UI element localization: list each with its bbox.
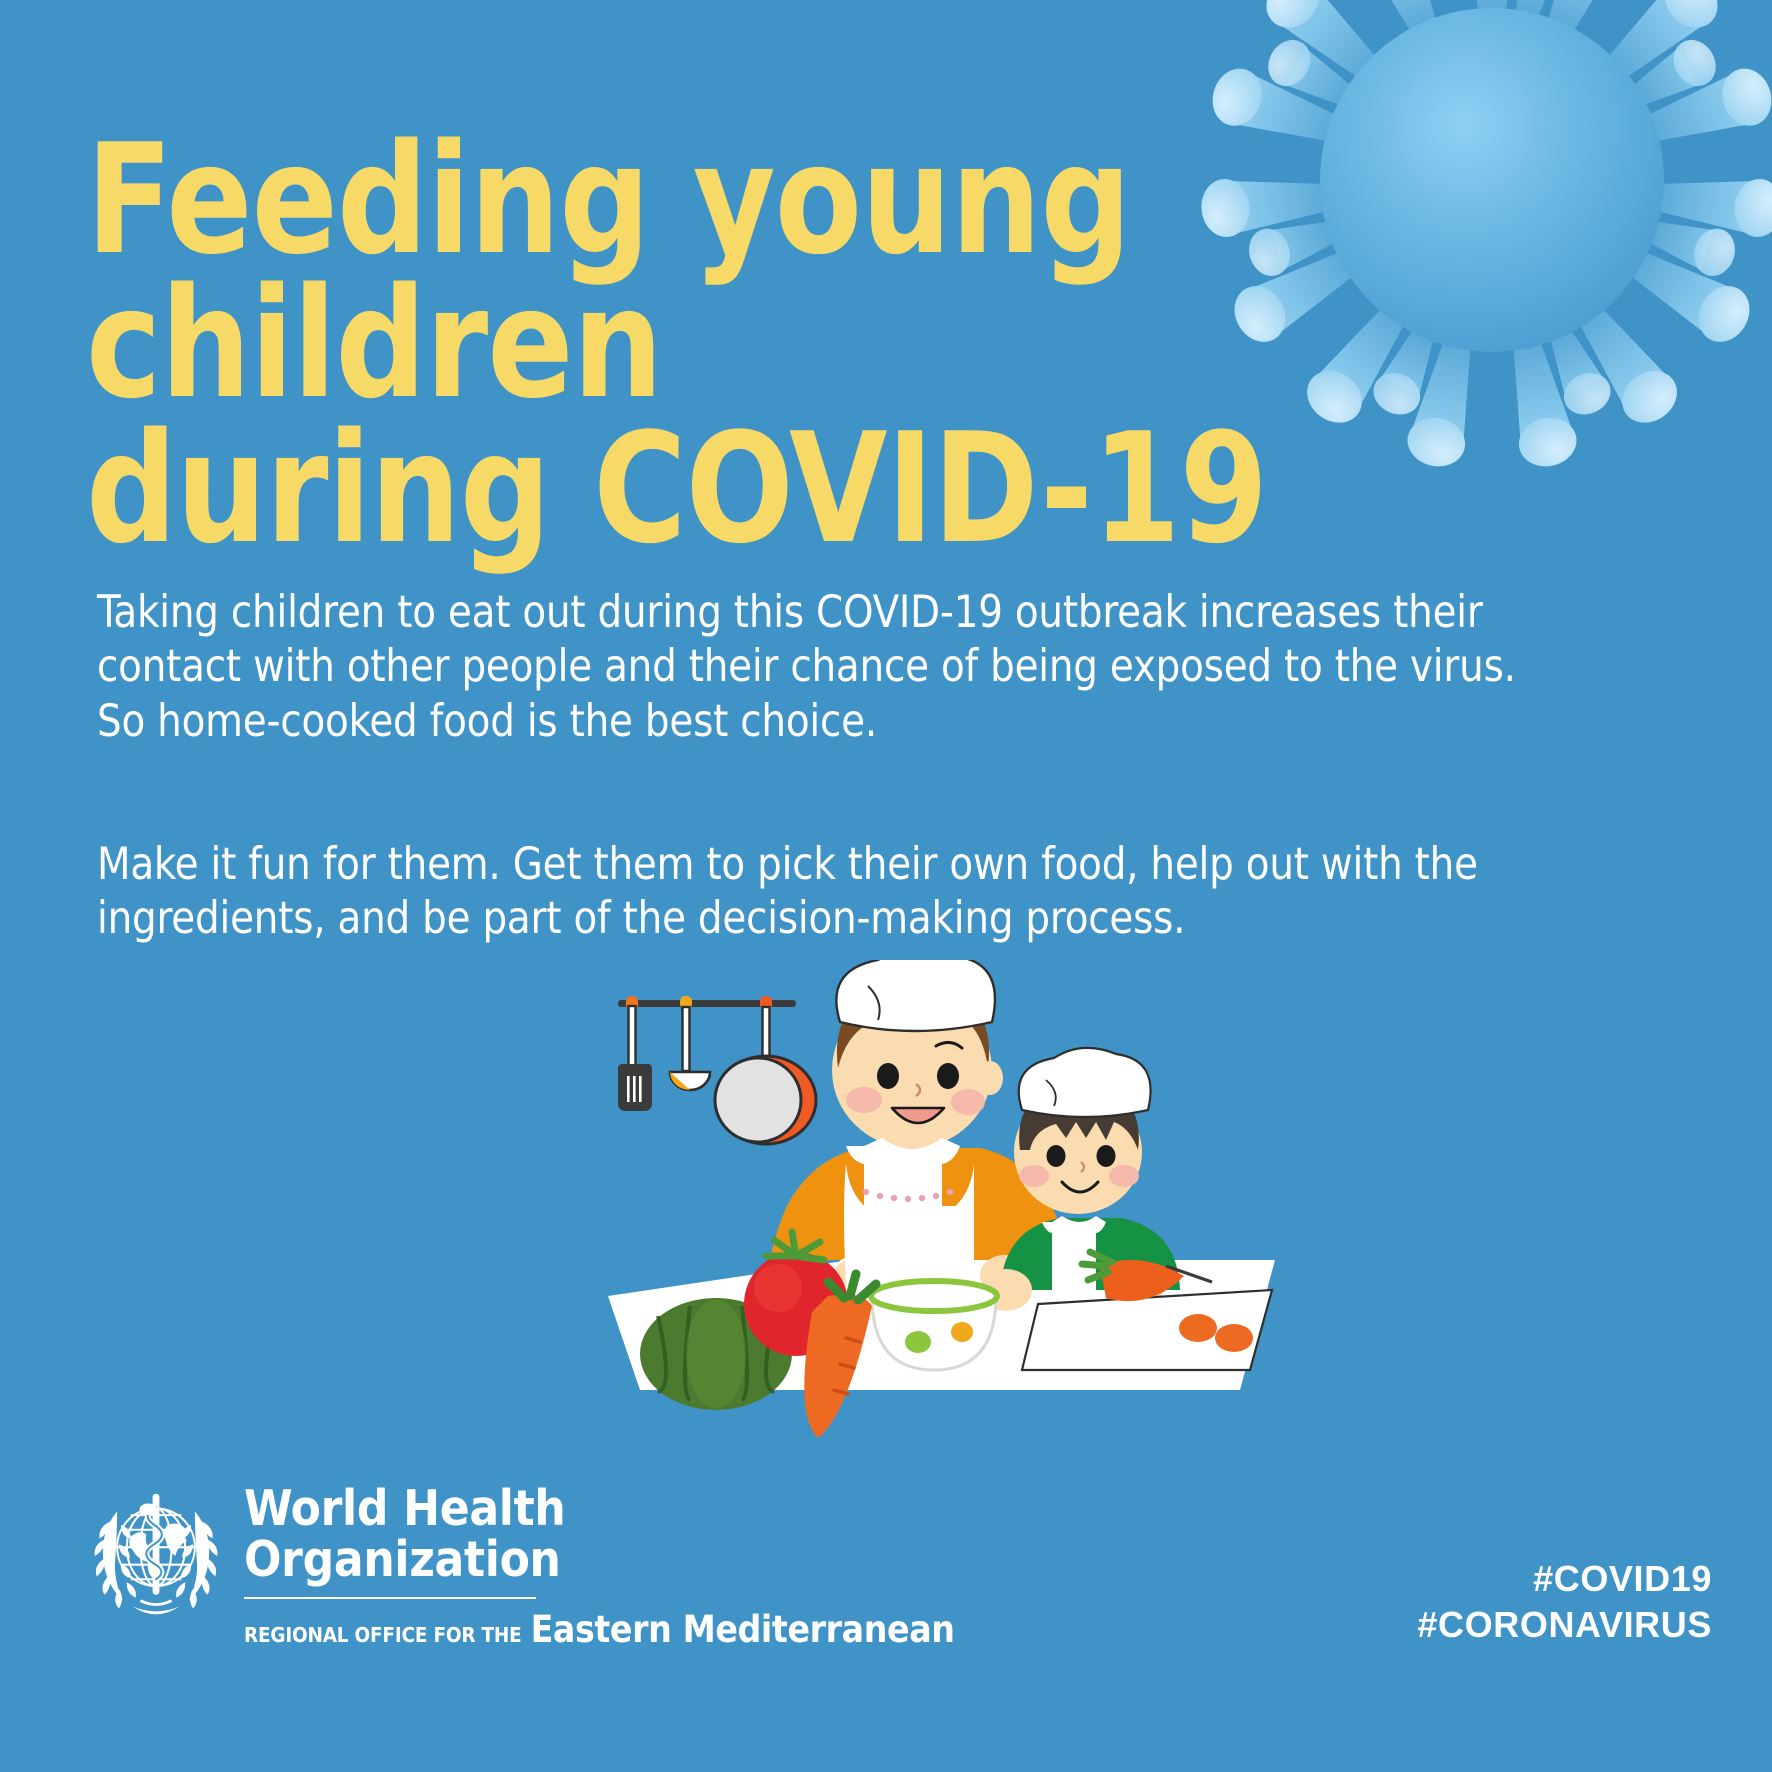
ladle-icon — [670, 996, 710, 1090]
who-name-line-1: World Health — [244, 1484, 955, 1535]
utensil-rack — [618, 996, 816, 1144]
hashtag-block: #COVID19 #CORONAVIRUS — [1417, 1556, 1712, 1648]
who-divider — [244, 1597, 536, 1600]
cooking-illustration — [600, 960, 1280, 1480]
who-region-name: Eastern Mediterranean — [531, 1608, 955, 1651]
who-region-prefix: REGIONAL OFFICE FOR THE — [244, 1623, 522, 1647]
hashtag-covid19: #COVID19 — [1417, 1556, 1712, 1602]
headline-line-1: Feeding young children — [86, 111, 1131, 432]
frying-pan-icon — [715, 996, 816, 1144]
body-paragraph-1: Taking children to eat out during this C… — [97, 586, 1533, 749]
poster-canvas: Feeding young children during COVID-19 T… — [0, 0, 1772, 1772]
hashtag-coronavirus: #CORONAVIRUS — [1417, 1602, 1712, 1648]
who-logo: World Health Organization REGIONAL OFFIC… — [88, 1478, 955, 1651]
who-name-line-2: Organization — [244, 1535, 955, 1586]
spatula-icon — [618, 996, 652, 1111]
headline-line-2: during COVID-19 — [86, 417, 1314, 561]
body-paragraph-2: Make it fun for them. Get them to pick t… — [97, 838, 1552, 947]
who-emblem-icon — [88, 1486, 224, 1622]
who-logo-text: World Health Organization REGIONAL OFFIC… — [244, 1478, 955, 1651]
page-title: Feeding young children during COVID-19 — [86, 128, 1314, 561]
